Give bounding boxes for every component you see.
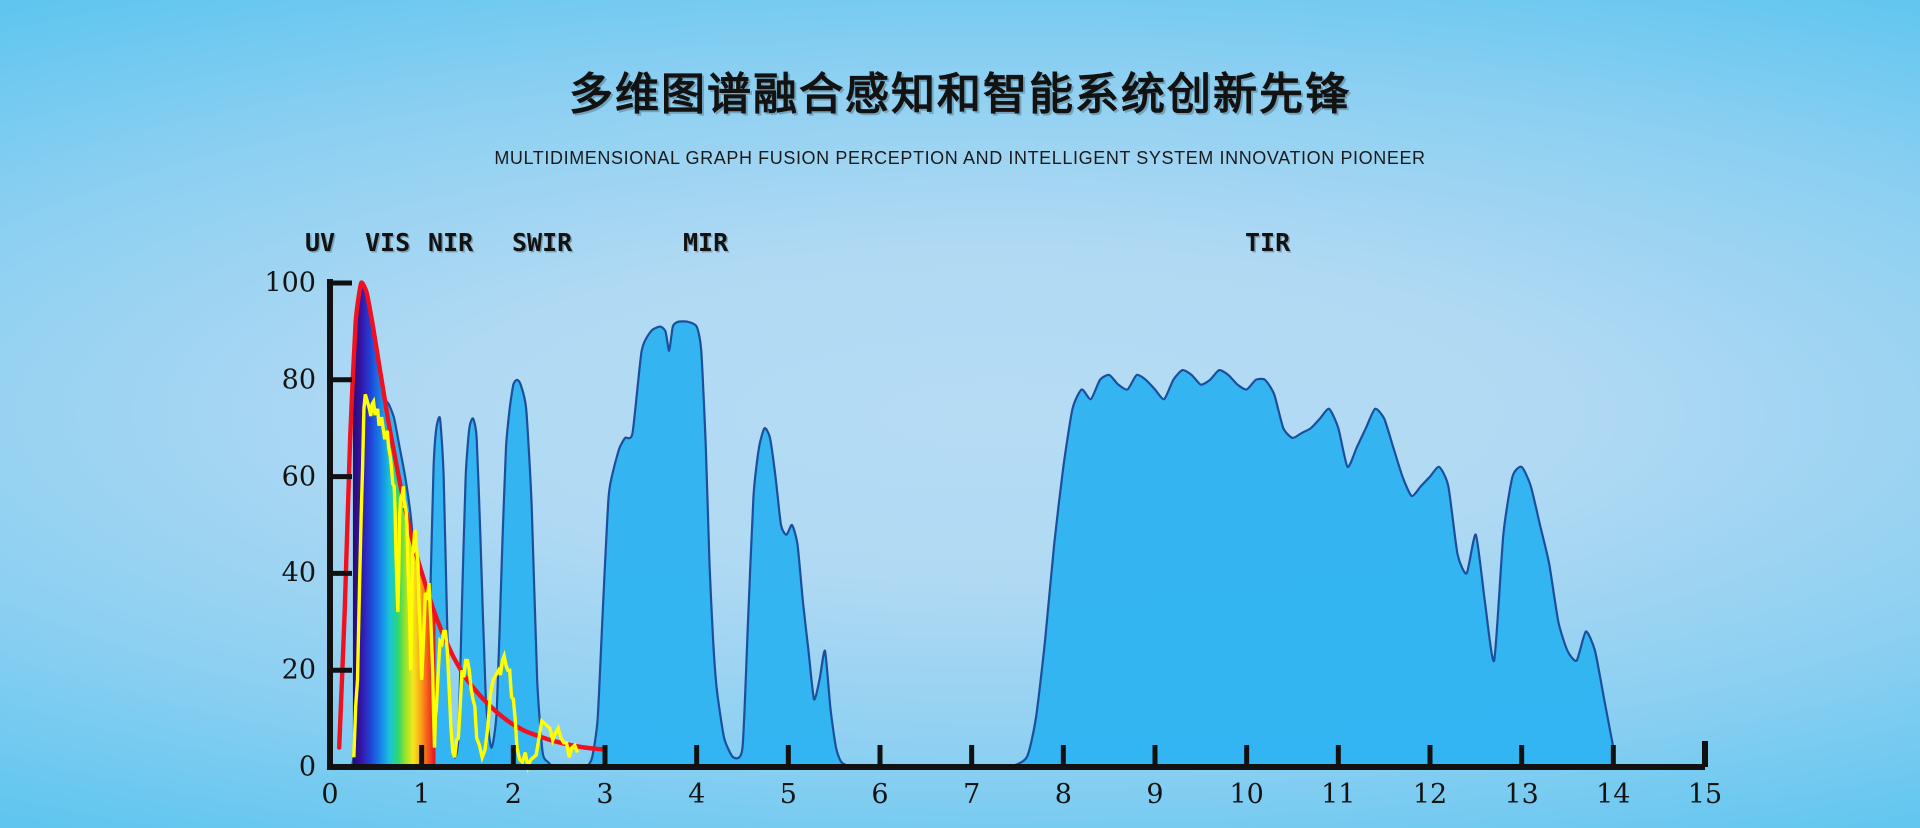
x-tick-label: 15 xyxy=(1688,779,1722,810)
y-tick-label: 0 xyxy=(299,752,316,783)
spectrum-chart xyxy=(0,0,1920,828)
x-tick-label: 11 xyxy=(1321,779,1355,810)
x-tick-label: 13 xyxy=(1505,779,1539,810)
x-tick-label: 6 xyxy=(871,779,888,810)
x-tick-label: 14 xyxy=(1596,779,1630,810)
x-tick-label: 10 xyxy=(1230,779,1264,810)
x-tick-label: 3 xyxy=(596,779,613,810)
x-tick-label: 7 xyxy=(963,779,980,810)
x-tick-label: 2 xyxy=(505,779,522,810)
x-tick-label: 9 xyxy=(1146,779,1163,810)
x-tick-label: 1 xyxy=(413,779,430,810)
y-tick-label: 80 xyxy=(282,364,316,395)
x-tick-label: 0 xyxy=(321,779,338,810)
x-tick-label: 12 xyxy=(1413,779,1447,810)
y-tick-label: 100 xyxy=(264,268,316,299)
x-tick-label: 8 xyxy=(1055,779,1072,810)
poster-stage: 多维图谱融合感知和智能系统创新先锋 MULTIDIMENSIONAL GRAPH… xyxy=(0,0,1920,828)
y-tick-label: 60 xyxy=(282,461,316,492)
transmission-area xyxy=(352,321,1613,767)
x-tick-label: 4 xyxy=(688,779,705,810)
y-tick-label: 40 xyxy=(282,558,316,589)
x-tick-label: 5 xyxy=(780,779,797,810)
y-tick-label: 20 xyxy=(282,655,316,686)
